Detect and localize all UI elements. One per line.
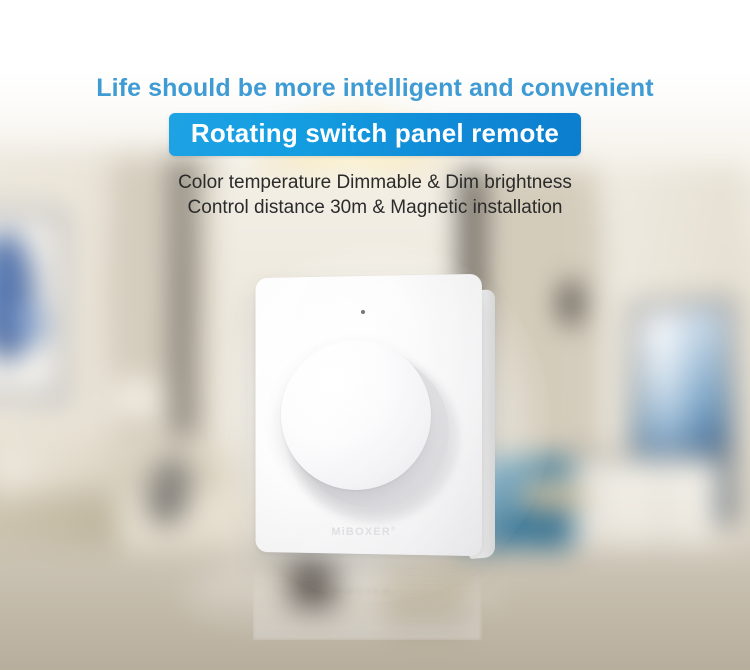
reflection-brand-logo: MiBOXER® — [253, 584, 475, 596]
framed-artwork — [0, 206, 64, 401]
brand-logo: MiBOXER® — [253, 526, 475, 538]
product-poster: Life should be more intelligent and conv… — [0, 0, 750, 670]
product-title-banner: Rotating switch panel remote — [169, 113, 581, 156]
reflection-panel — [253, 566, 481, 640]
brand-logo-text: MiBOXER — [331, 526, 391, 538]
reflection-brand-text: MiBOXER — [331, 584, 391, 596]
headline-tagline: Life should be more intelligent and conv… — [0, 74, 750, 103]
right-wall-moulding — [598, 210, 601, 480]
feature-line-2: Control distance 30m & Magnetic installa… — [0, 197, 750, 219]
table-lamp-shade — [108, 380, 170, 426]
brand-trademark-symbol: ® — [391, 526, 397, 532]
wall-sconce — [560, 280, 582, 326]
product-title-banner-wrap: Rotating switch panel remote — [0, 113, 750, 156]
led-indicator — [361, 310, 365, 314]
sofa-cushion — [66, 443, 143, 494]
reflection-trademark-symbol: ® — [391, 590, 397, 596]
sofa-cushion — [0, 442, 78, 499]
feature-line-1: Color temperature Dimmable & Dim brightn… — [0, 172, 750, 194]
device-reflection: MiBOXER® — [253, 566, 505, 640]
product-device: MiBOXER® — [253, 276, 505, 564]
knob-highlight — [301, 354, 387, 416]
